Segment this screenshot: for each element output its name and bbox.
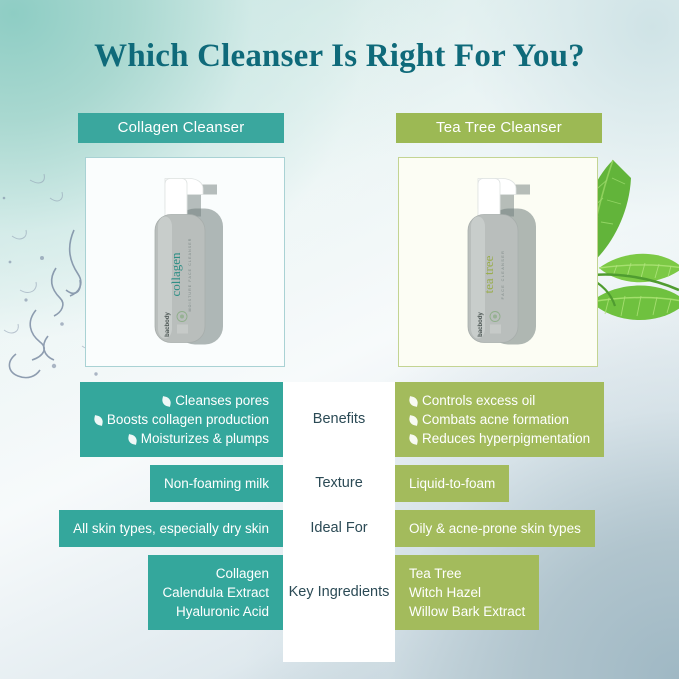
cell-collagen: CollagenCalendula ExtractHyaluronic Acid bbox=[0, 555, 283, 630]
cell-collagen: All skin types, especially dry skin bbox=[0, 510, 283, 547]
benefit-text: Moisturizes & plumps bbox=[141, 431, 269, 446]
value-pill-tea-tree: Oily & acne-prone skin types bbox=[395, 510, 595, 547]
cell-tea-tree: Controls excess oilCombats acne formatio… bbox=[395, 382, 679, 457]
bottle-name-text: tea tree bbox=[481, 255, 496, 293]
value-line: Oily & acne-prone skin types bbox=[409, 519, 581, 538]
leaf-bullet-icon bbox=[161, 396, 172, 407]
value-line: Liquid-to-foam bbox=[409, 474, 495, 493]
leaf-bullet-icon bbox=[127, 434, 138, 445]
cell-tea-tree: Oily & acne-prone skin types bbox=[395, 510, 679, 547]
cell-collagen: Non-foaming milk bbox=[0, 465, 283, 502]
value-pill-collagen: CollagenCalendula ExtractHyaluronic Acid bbox=[148, 555, 283, 630]
value-line: Collagen bbox=[162, 564, 269, 583]
benefit-item: Moisturizes & plumps bbox=[94, 429, 269, 448]
leaf-bullet-icon bbox=[93, 415, 104, 426]
page-title: Which Cleanser Is Right For You? bbox=[0, 38, 679, 75]
value-line: Non-foaming milk bbox=[164, 474, 269, 493]
pump-bottle-icon: collagen MOISTURE FACE CLEANSER bacbody bbox=[125, 165, 245, 355]
cell-collagen: Cleanses poresBoosts collagen production… bbox=[0, 382, 283, 457]
bottle-name-text: collagen bbox=[168, 252, 183, 297]
product-image-frame-collagen: collagen MOISTURE FACE CLEANSER bacbody bbox=[85, 157, 285, 367]
leaf-bullet-icon bbox=[408, 415, 419, 426]
benefit-item: Controls excess oil bbox=[409, 391, 590, 410]
comparison-table: Cleanses poresBoosts collagen production… bbox=[0, 382, 679, 638]
value-line: Willow Bark Extract bbox=[409, 602, 525, 621]
product-header-collagen: Collagen Cleanser bbox=[78, 113, 284, 143]
comparison-infographic: Which Cleanser Is Right For You? Collage… bbox=[0, 0, 679, 679]
benefit-text: Reduces hyperpigmentation bbox=[422, 431, 590, 446]
comparison-row: All skin types, especially dry skinIdeal… bbox=[0, 510, 679, 547]
tea-tree-bottle-image: tea tree FACE CLEANSER bacbody bbox=[438, 165, 558, 360]
benefit-text: Boosts collagen production bbox=[107, 412, 269, 427]
value-pill-collagen: Cleanses poresBoosts collagen production… bbox=[80, 382, 283, 457]
row-label: Benefits bbox=[283, 382, 395, 457]
value-pill-collagen: All skin types, especially dry skin bbox=[59, 510, 283, 547]
value-line: Witch Hazel bbox=[409, 583, 525, 602]
product-header-tea-tree: Tea Tree Cleanser bbox=[396, 113, 602, 143]
leaf-bullet-icon bbox=[408, 434, 419, 445]
collagen-bottle-image: collagen MOISTURE FACE CLEANSER bacbody bbox=[125, 165, 245, 360]
comparison-row: Non-foaming milkTextureLiquid-to-foam bbox=[0, 465, 679, 502]
row-label: Texture bbox=[283, 465, 395, 502]
comparison-row: CollagenCalendula ExtractHyaluronic Acid… bbox=[0, 555, 679, 630]
leaf-bullet-icon bbox=[408, 396, 419, 407]
row-label: Ideal For bbox=[283, 510, 395, 547]
product-image-frame-tea-tree: tea tree FACE CLEANSER bacbody bbox=[398, 157, 598, 367]
value-pill-tea-tree: Tea TreeWitch HazelWillow Bark Extract bbox=[395, 555, 539, 630]
row-label: Key Ingredients bbox=[283, 555, 395, 630]
value-line: Hyaluronic Acid bbox=[162, 602, 269, 621]
cell-tea-tree: Tea TreeWitch HazelWillow Bark Extract bbox=[395, 555, 679, 630]
bottle-brand-text: bacbody bbox=[165, 312, 171, 337]
bottle-brand-text: bacbody bbox=[478, 312, 484, 337]
cell-tea-tree: Liquid-to-foam bbox=[395, 465, 679, 502]
comparison-row: Cleanses poresBoosts collagen production… bbox=[0, 382, 679, 457]
bottle-subtitle-text: MOISTURE FACE CLEANSER bbox=[188, 238, 192, 312]
benefit-item: Reduces hyperpigmentation bbox=[409, 429, 590, 448]
value-pill-collagen: Non-foaming milk bbox=[150, 465, 283, 502]
value-line: All skin types, especially dry skin bbox=[73, 519, 269, 538]
benefit-text: Combats acne formation bbox=[422, 412, 569, 427]
benefit-text: Controls excess oil bbox=[422, 393, 535, 408]
value-line: Tea Tree bbox=[409, 564, 525, 583]
pump-bottle-icon: tea tree FACE CLEANSER bacbody bbox=[438, 165, 558, 355]
value-pill-tea-tree: Liquid-to-foam bbox=[395, 465, 509, 502]
benefit-item: Combats acne formation bbox=[409, 410, 590, 429]
value-pill-tea-tree: Controls excess oilCombats acne formatio… bbox=[395, 382, 604, 457]
value-line: Calendula Extract bbox=[162, 583, 269, 602]
benefit-text: Cleanses pores bbox=[175, 393, 269, 408]
benefit-item: Cleanses pores bbox=[94, 391, 269, 410]
benefit-item: Boosts collagen production bbox=[94, 410, 269, 429]
bottle-subtitle-text: FACE CLEANSER bbox=[501, 250, 505, 300]
